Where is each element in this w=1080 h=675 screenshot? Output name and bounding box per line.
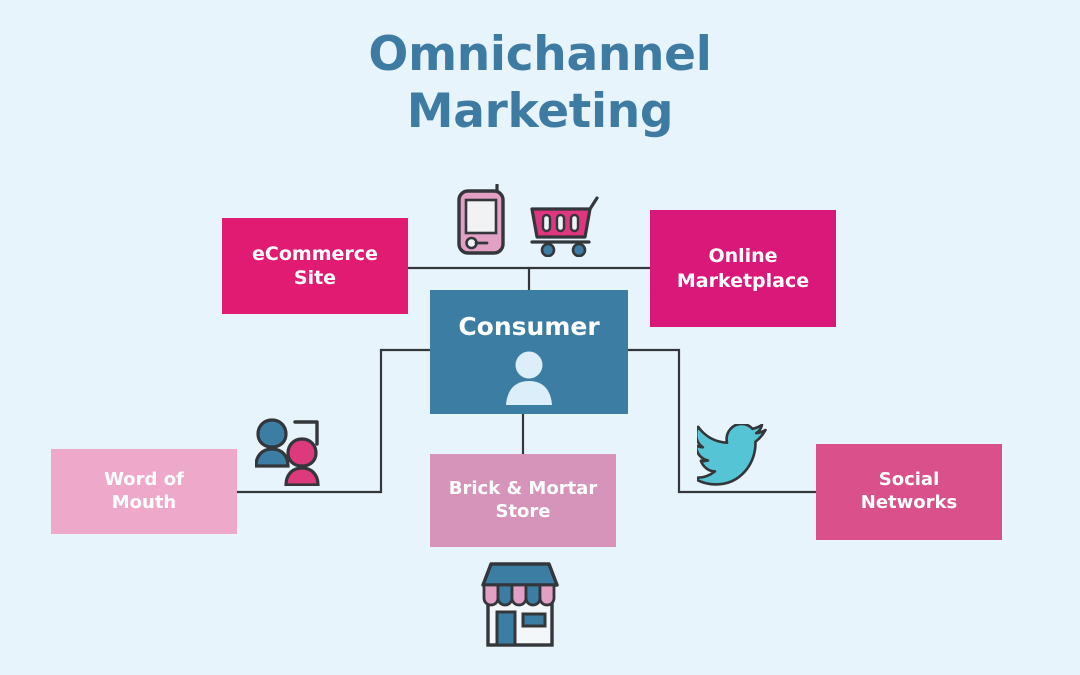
person-icon — [499, 349, 559, 405]
channel-label-brick-and-mortar-store: Brick & Mortar Store — [441, 478, 605, 524]
center-node-consumer[interactable]: Consumer — [430, 290, 628, 414]
twitter-bird-icon — [697, 424, 771, 488]
channel-label-social-networks: Social Networks — [853, 469, 965, 515]
infographic-canvas: Omnichannel Marketing Online Marketplace… — [0, 0, 1080, 675]
channel-box-online-marketplace[interactable]: Online Marketplace — [650, 210, 836, 327]
channel-label-word-of-mouth: Word of Mouth — [96, 469, 192, 515]
channel-box-brick-and-mortar-store[interactable]: Brick & Mortar Store — [430, 454, 616, 547]
two-people-icon — [255, 414, 329, 486]
channel-box-word-of-mouth[interactable]: Word of Mouth — [51, 449, 237, 534]
channel-box-ecommerce-site[interactable]: eCommerce Site — [222, 218, 408, 314]
channel-box-social-networks[interactable]: Social Networks — [816, 444, 1002, 540]
channel-label-ecommerce-site: eCommerce Site — [244, 242, 386, 290]
channel-label-online-marketplace: Online Marketplace — [669, 244, 817, 292]
storefront-icon — [477, 557, 563, 649]
shopping-cart-icon — [527, 195, 603, 257]
center-node-label: Consumer — [430, 311, 628, 343]
mobile-phone-icon — [452, 184, 512, 256]
